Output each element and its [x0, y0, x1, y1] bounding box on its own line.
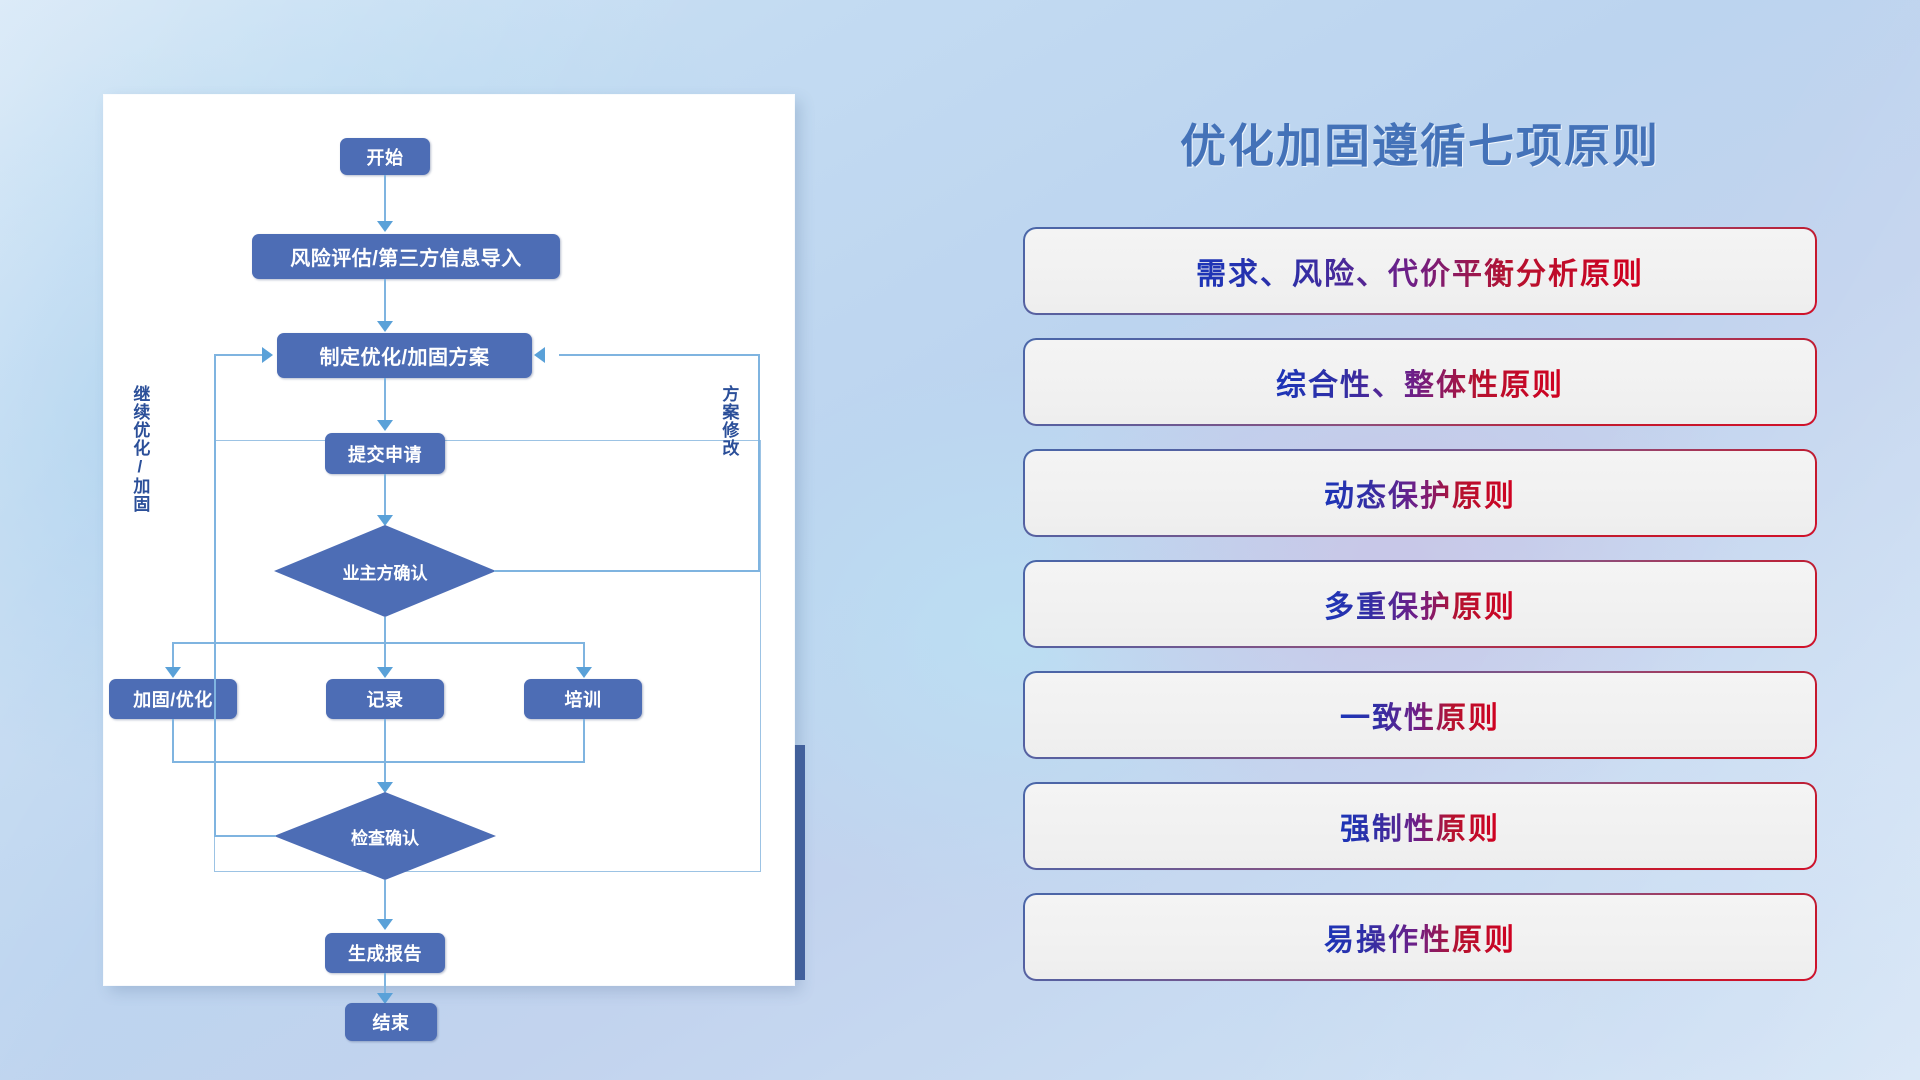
- connector-confirm-down: [384, 617, 386, 643]
- arrowhead-down-branch-right: [576, 667, 592, 678]
- flow-node-record[interactable]: 记录: [326, 679, 444, 719]
- flow-node-label: 开始: [367, 144, 404, 170]
- principle-label: 综合性、整体性原则: [1276, 360, 1564, 404]
- connector-right-loop-into-plan: [559, 354, 759, 356]
- connector-right-loop-vertical: [758, 354, 760, 572]
- flow-node-label: 记录: [367, 686, 404, 712]
- flow-node-label: 检查确认: [351, 824, 419, 849]
- arrowhead-down-to-report: [377, 919, 393, 930]
- flow-node-label: 提交申请: [348, 441, 422, 467]
- principle-label: 一致性原则: [1340, 693, 1500, 737]
- principle-label: 多重保护原则: [1324, 582, 1516, 626]
- principles-list: 需求、风险、代价平衡分析原则 综合性、整体性原则 动态保护原则 多重保护原则 一…: [1025, 229, 1815, 1006]
- principle-label: 动态保护原则: [1324, 471, 1516, 515]
- principle-item-2[interactable]: 综合性、整体性原则: [1025, 340, 1815, 424]
- principle-item-6[interactable]: 强制性原则: [1025, 784, 1815, 868]
- principle-label: 需求、风险、代价平衡分析原则: [1196, 249, 1644, 293]
- connector-left-loop-into-plan: [214, 354, 262, 356]
- arrowhead-down-to-check: [377, 782, 393, 793]
- flow-node-label: 业主方确认: [343, 559, 428, 584]
- connector-check-to-report: [384, 880, 386, 922]
- connector-merge-to-check: [384, 719, 386, 785]
- connector-start-to-risk: [384, 175, 386, 223]
- connector-merge-left: [172, 719, 174, 763]
- flow-node-training[interactable]: 培训: [524, 679, 642, 719]
- connector-merge-bus: [172, 761, 584, 763]
- arrowhead-down-1: [377, 221, 393, 232]
- flow-node-reinforce-optimize[interactable]: 加固/优化: [109, 679, 237, 719]
- flow-node-label: 风险评估/第三方信息导入: [290, 242, 522, 271]
- connector-submit-to-confirm: [384, 474, 386, 518]
- connector-branch-mid: [384, 642, 386, 670]
- flow-node-label: 生成报告: [348, 940, 422, 966]
- flow-node-end[interactable]: 结束: [345, 1003, 437, 1041]
- connector-branch-left: [172, 642, 174, 670]
- flowchart-loop-frame: [214, 440, 761, 872]
- edge-label-continue-optimize: 继续优化/加固: [131, 385, 148, 565]
- flow-node-label: 制定优化/加固方案: [319, 341, 489, 370]
- principle-label: 易操作性原则: [1324, 915, 1516, 959]
- principles-title: 优化加固遵循七项原则: [1025, 110, 1815, 176]
- arrowhead-left-into-plan: [534, 347, 545, 363]
- principle-item-5[interactable]: 一致性原则: [1025, 673, 1815, 757]
- edge-label-plan-revision: 方案修改: [720, 385, 737, 515]
- flow-node-make-plan[interactable]: 制定优化/加固方案: [277, 333, 532, 378]
- flow-node-submit-application[interactable]: 提交申请: [325, 433, 445, 474]
- flow-node-label: 培训: [565, 686, 602, 712]
- connector-split-bus: [172, 642, 584, 644]
- flow-node-start[interactable]: 开始: [340, 138, 430, 175]
- flow-node-label: 加固/优化: [133, 686, 213, 712]
- flow-node-generate-report[interactable]: 生成报告: [325, 933, 445, 973]
- connector-confirm-to-right-loop: [494, 570, 759, 572]
- connector-report-to-end: [384, 973, 386, 995]
- connector-check-to-left-loop: [214, 835, 276, 837]
- connector-plan-to-submit: [384, 378, 386, 423]
- arrowhead-right-into-plan: [262, 347, 273, 363]
- principle-item-3[interactable]: 动态保护原则: [1025, 451, 1815, 535]
- connector-branch-right: [583, 642, 585, 670]
- principle-item-1[interactable]: 需求、风险、代价平衡分析原则: [1025, 229, 1815, 313]
- arrowhead-down-3: [377, 420, 393, 431]
- flow-node-label: 结束: [373, 1009, 410, 1035]
- arrowhead-down-4: [377, 515, 393, 526]
- arrowhead-down-2: [377, 321, 393, 332]
- flow-node-risk-assessment[interactable]: 风险评估/第三方信息导入: [252, 234, 560, 279]
- principle-item-4[interactable]: 多重保护原则: [1025, 562, 1815, 646]
- connector-left-loop-vertical: [214, 354, 216, 836]
- arrowhead-down-branch-left: [165, 667, 181, 678]
- principle-label: 强制性原则: [1340, 804, 1500, 848]
- arrowhead-down-branch-mid: [377, 667, 393, 678]
- flowchart-card: 开始 风险评估/第三方信息导入 制定优化/加固方案 提交申请 业主方确认 加固/…: [104, 95, 794, 985]
- connector-merge-right: [583, 719, 585, 763]
- principle-item-7[interactable]: 易操作性原则: [1025, 895, 1815, 979]
- connector-risk-to-plan: [384, 279, 386, 324]
